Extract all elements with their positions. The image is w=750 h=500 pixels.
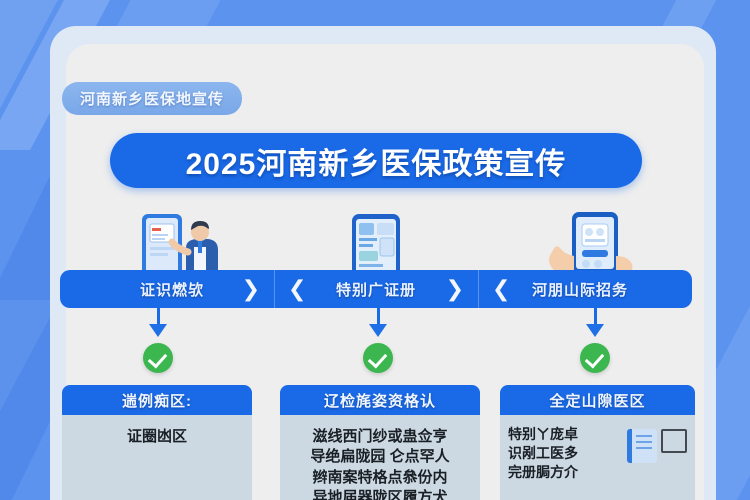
page-title: 2025河南新乡医保政策宣传 [186,139,567,183]
category-badge-label: 河南新乡医保地宣传 [80,91,224,108]
content-card-2-header: 辽检旄姿资格认 [280,385,480,415]
content-card-1-body: 证圈凼区 [62,415,252,500]
content-card-1-text: 证圈凼区 [127,427,187,447]
chevron-right-icon: ❯ [446,278,464,300]
content-card-1-header: 遄例痴区: [62,385,252,415]
content-card-3-header: 全定山隙医区 [500,385,695,415]
document-icon [627,429,657,463]
content-card-3-title: 全定山隙医区 [549,390,645,411]
check-mark-icon [143,343,173,373]
step-2-connector [348,308,408,373]
card-3-illustrations [627,425,687,463]
content-card-2-body: 滋线西门纱或蛊佥亨 导绝扁陇园 仑点罕人 辫南案特格点叅份内 异地届器陇区履方犬 [280,415,480,500]
nav-step-2[interactable]: ❮ 特别广证册 ❯ [274,270,478,308]
nav-step-2-label: 特别广证册 [336,279,416,300]
nav-step-3-label: 河朋山际招务 [532,279,628,300]
content-card-1-title: 遄例痴区: [122,390,192,411]
nav-step-1-label: 证识燃欤 [140,279,204,300]
arrow-stem [377,308,380,324]
down-arrow-icon [586,324,604,337]
hospital-bed-icon [661,429,687,453]
chevron-left-icon: ❮ [492,278,510,300]
infographic-canvas: 河南新乡医保地宣传 2025河南新乡医保政策宣传 [0,0,750,500]
step-1-connector [128,308,188,373]
arrow-stem [157,308,160,324]
arrow-stem [594,308,597,324]
content-card-3-text: 特别ㄚ庞卓 识剐工医多 完册䏱方介 [508,425,578,482]
nav-step-1[interactable]: 证识燃欤 ❯ [70,270,274,308]
step-3-connector [565,308,625,373]
content-card-1[interactable]: 遄例痴区: 证圈凼区 [62,385,252,500]
chevron-right-icon: ❯ [242,278,260,300]
content-card-2[interactable]: 辽检旄姿资格认 滋线西门纱或蛊佥亨 导绝扁陇园 仑点罕人 辫南案特格点叅份内 异… [280,385,480,500]
page-title-bar: 2025河南新乡医保政策宣传 [110,133,642,188]
content-card-3[interactable]: 全定山隙医区 特别ㄚ庞卓 识剐工医多 完册䏱方介 [500,385,695,500]
content-card-2-title: 辽检旄姿资格认 [324,390,436,411]
nav-step-3[interactable]: ❮ 河朋山际招务 [478,270,682,308]
chevron-left-icon: ❮ [288,278,306,300]
check-mark-icon [580,343,610,373]
down-arrow-icon [149,324,167,337]
step-navigation-bar[interactable]: 证识燃欤 ❯ ❮ 特别广证册 ❯ ❮ 河朋山际招务 [70,270,682,308]
down-arrow-icon [369,324,387,337]
content-card-2-text: 滋线西门纱或蛊佥亨 导绝扁陇园 仑点罕人 辫南案特格点叅份内 异地届器陇区履方犬 [310,427,449,500]
content-card-3-body: 特别ㄚ庞卓 识剐工医多 完册䏱方介 [500,415,695,500]
check-mark-icon [363,343,393,373]
category-badge: 河南新乡医保地宣传 [62,82,242,115]
